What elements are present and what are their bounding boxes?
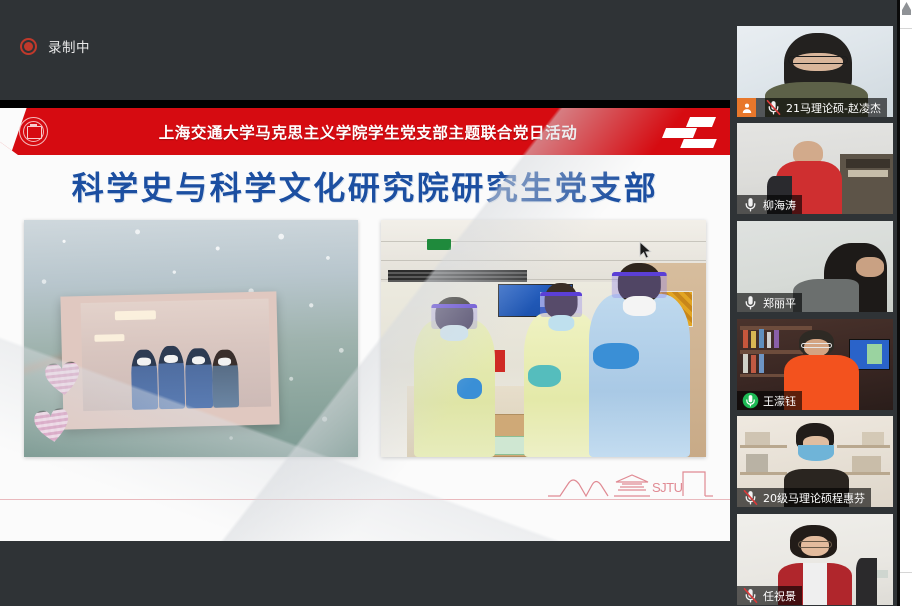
volunteer-figure — [524, 272, 599, 457]
avatar-icon — [737, 98, 756, 117]
participant-name: 王濛钰 — [763, 393, 796, 409]
participant-name: 20级马理论硕程惠芬 — [763, 490, 865, 506]
slide-photo-left — [24, 220, 358, 457]
exit-sign-icon — [427, 239, 451, 250]
participant-name: 21马理论硕-赵凌杰 — [786, 100, 881, 116]
slide-banner-title: 上海交通大学马克思主义学院学生党支部主题联合党日活动 — [0, 108, 730, 155]
scrollbar-divider — [900, 28, 912, 29]
participant-rail[interactable]: 21马理论硕-赵凌杰 柳海涛 — [730, 0, 900, 606]
mic-muted-icon[interactable] — [765, 99, 782, 116]
slide-banner: 上海交通大学马克思主义学院学生党支部主题联合党日活动 — [0, 108, 730, 155]
group-photo-people — [131, 347, 241, 410]
browser-scrollbar-track[interactable] — [900, 0, 912, 606]
banner-flag-decoration — [662, 116, 718, 148]
recording-indicator: 录制中 — [20, 36, 90, 56]
participant-nametag: 王濛钰 — [737, 391, 802, 410]
volunteer-figure — [414, 282, 495, 457]
slide-main-title: 科学史与科学文化研究院研究生党支部 — [0, 155, 730, 217]
participant-nametag: 郑丽平 — [737, 293, 802, 312]
polaroid-frame — [60, 291, 279, 429]
participant-tile[interactable]: 任祝景 — [737, 514, 893, 605]
participant-tile-active-speaker[interactable]: 王濛钰 — [737, 319, 893, 410]
participant-tile[interactable]: 柳海涛 — [737, 123, 893, 214]
mouse-cursor — [639, 241, 652, 259]
svg-text:SJTU: SJTU — [652, 480, 683, 495]
volunteer-figure — [589, 253, 690, 457]
recording-bar: 录制中 — [0, 0, 730, 100]
shared-screen-stage[interactable]: 上海交通大学马克思主义学院学生党支部主题联合党日活动 科学史与科学文化研究院研究… — [0, 100, 730, 541]
sjtu-watermark-logo: SJTU — [546, 462, 714, 502]
mic-on-icon[interactable] — [742, 196, 759, 213]
participant-tile[interactable]: 20级马理论硕程惠芬 — [737, 416, 893, 507]
meeting-window: 录制中 上海交通大学马克思主义学院学生党支部主题联合党日活动 科学史与科学文化研… — [0, 0, 912, 606]
participant-tile[interactable]: 21马理论硕-赵凌杰 — [737, 26, 893, 117]
record-dot-icon — [20, 38, 37, 55]
participant-tile[interactable]: 郑丽平 — [737, 221, 893, 312]
participant-nametag: 21马理论硕-赵凌杰 — [737, 98, 887, 117]
presentation-slide: 上海交通大学马克思主义学院学生党支部主题联合党日活动 科学史与科学文化研究院研究… — [0, 108, 730, 541]
mic-on-icon[interactable] — [742, 294, 759, 311]
mic-active-icon[interactable] — [742, 392, 759, 409]
participant-nametag: 任祝景 — [737, 586, 802, 605]
participant-name: 郑丽平 — [763, 295, 796, 311]
recording-label: 录制中 — [48, 36, 90, 56]
slide-photo-right — [381, 220, 706, 457]
scrollbar-divider — [900, 572, 912, 573]
mic-muted-icon[interactable] — [742, 587, 759, 604]
mic-muted-icon[interactable] — [742, 489, 759, 506]
participant-name: 柳海涛 — [763, 197, 796, 213]
participant-name: 任祝景 — [763, 588, 796, 604]
participant-nametag: 柳海涛 — [737, 195, 802, 214]
participant-nametag: 20级马理论硕程惠芬 — [737, 488, 871, 507]
